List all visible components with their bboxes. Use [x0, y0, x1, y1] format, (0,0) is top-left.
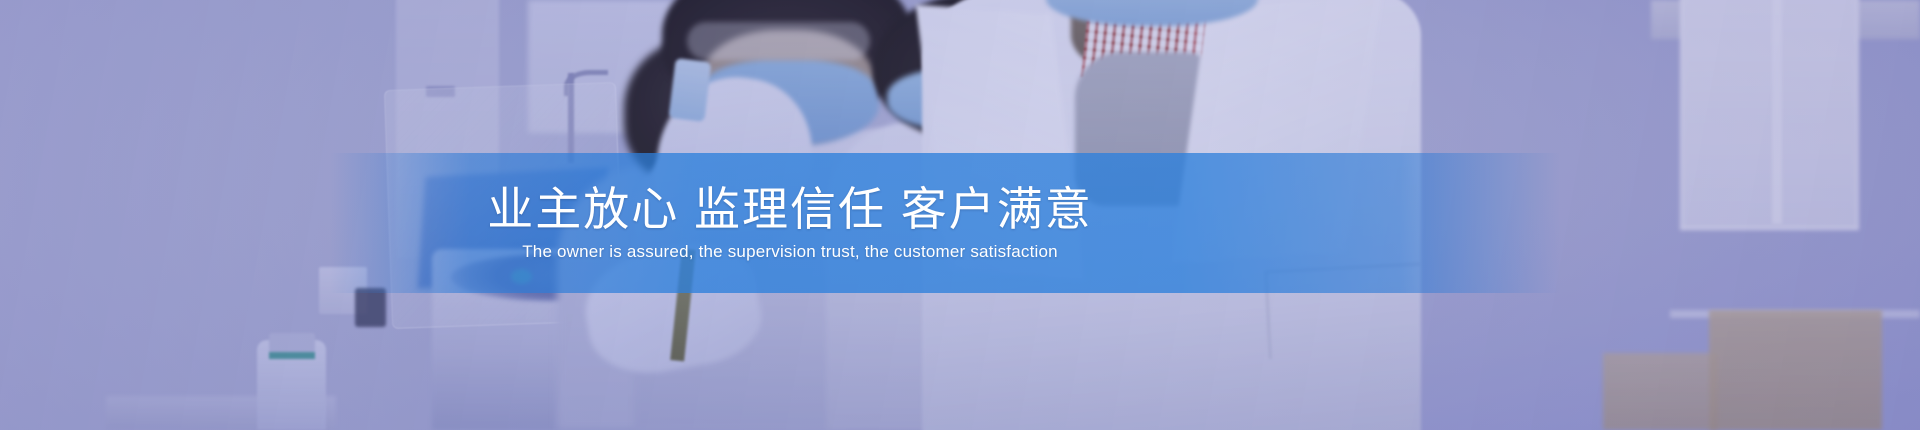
hero-banner: 业主放心 监理信任 客户满意 The owner is assured, the…: [0, 0, 1920, 430]
banner-caption: 业主放心 监理信任 客户满意 The owner is assured, the…: [0, 153, 1920, 293]
banner-headline: 业主放心 监理信任 客户满意: [487, 184, 1093, 236]
banner-subheadline: The owner is assured, the supervision tr…: [522, 242, 1058, 262]
